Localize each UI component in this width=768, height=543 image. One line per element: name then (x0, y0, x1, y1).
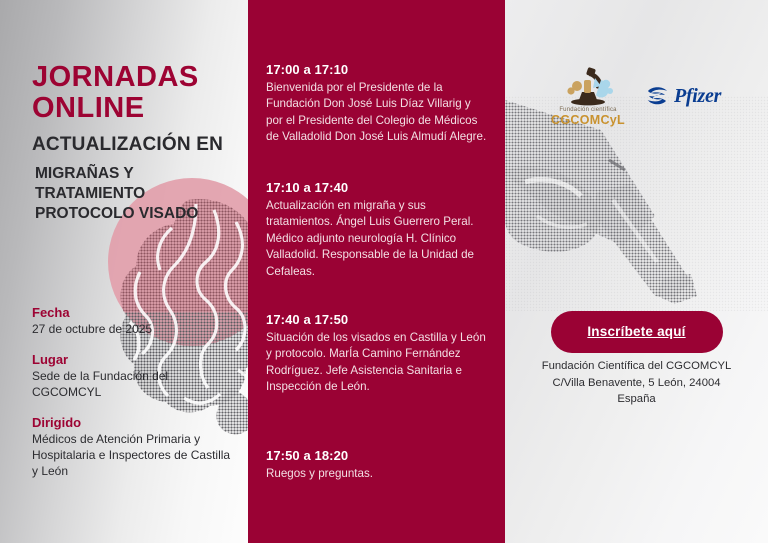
microscope-icon (557, 66, 619, 106)
schedule-entry: 17:00 a 17:10 Bienvenida por el Presiden… (266, 62, 488, 146)
address-line-1: Fundación Científica del CGCOMCYL (505, 358, 768, 375)
schedule-time: 17:50 a 18:20 (266, 448, 488, 463)
registration-panel: Fundación científica CGCOMCyL Pfizer Ins… (505, 0, 768, 543)
schedule-time: 17:00 a 17:10 (266, 62, 488, 77)
schedule-entry: 17:50 a 18:20 Ruegos y preguntas. (266, 448, 488, 482)
sponsor-logos: Fundación científica CGCOMCyL Pfizer (545, 58, 730, 134)
cta-container: Inscríbete aquí (505, 311, 768, 353)
subtitle-actualizacion: ACTUALIZACIÓN EN (32, 135, 247, 156)
address-block: Fundación Científica del CGCOMCYL C/Vill… (505, 358, 768, 408)
schedule-panel: 17:00 a 17:10 Bienvenida por el Presiden… (248, 0, 505, 543)
event-details-block: Fecha 27 de octubre de 2025 Lugar Sede d… (32, 305, 232, 494)
cgcomcyl-logo: Fundación científica CGCOMCyL (545, 66, 631, 127)
detail-value-dirigido: Médicos de Atención Primaria y Hospitala… (32, 432, 232, 479)
address-line-2: C/Villa Benavente, 5 León, 24004 (505, 375, 768, 392)
register-button[interactable]: Inscríbete aquí (551, 311, 723, 353)
detail-item-fecha: Fecha 27 de octubre de 2025 (32, 305, 232, 338)
schedule-description: Situación de los visados en Castilla y L… (266, 330, 488, 396)
detail-label-fecha: Fecha (32, 305, 232, 321)
title-block: JORNADAS ONLINE ACTUALIZACIÓN EN MIGRAÑA… (32, 62, 247, 223)
title-jornadas: JORNADAS (32, 62, 247, 93)
pfizer-wordmark: Pfizer (674, 85, 721, 108)
topic-line-2: PROTOCOLO VISADO (35, 204, 247, 224)
detail-label-dirigido: Dirigido (32, 415, 232, 431)
pfizer-logo: Pfizer (645, 84, 721, 108)
schedule-description: Actualización en migraña y sus tratamien… (266, 198, 488, 280)
topic-line-1: MIGRAÑAS Y TRATAMIENTO (35, 164, 247, 204)
detail-value-fecha: 27 de octubre de 2025 (32, 322, 232, 338)
register-button-label: Inscríbete aquí (587, 324, 685, 339)
left-info-panel: JORNADAS ONLINE ACTUALIZACIÓN EN MIGRAÑA… (0, 0, 248, 543)
address-line-3: España (505, 391, 768, 408)
schedule-entry: 17:10 a 17:40 Actualización en migraña y… (266, 180, 488, 280)
detail-value-lugar: Sede de la Fundación del CGCOMCYL (32, 369, 232, 401)
schedule-time: 17:40 a 17:50 (266, 312, 488, 327)
schedule-time: 17:10 a 17:40 (266, 180, 488, 195)
title-online: ONLINE (32, 93, 247, 124)
cgcomcyl-name: CGCOMCyL (551, 114, 625, 127)
schedule-entry: 17:40 a 17:50 Situación de los visados e… (266, 312, 488, 396)
detail-label-lugar: Lugar (32, 352, 232, 368)
poster-canvas: JORNADAS ONLINE ACTUALIZACIÓN EN MIGRAÑA… (0, 0, 768, 543)
cgcomcyl-subtitle: Fundación científica (559, 107, 616, 113)
detail-item-dirigido: Dirigido Médicos de Atención Primaria y … (32, 415, 232, 480)
detail-item-lugar: Lugar Sede de la Fundación del CGCOMCYL (32, 352, 232, 401)
schedule-description: Ruegos y preguntas. (266, 466, 488, 482)
pfizer-swirl-icon (645, 84, 671, 108)
schedule-description: Bienvenida por el Presidente de la Funda… (266, 80, 488, 146)
